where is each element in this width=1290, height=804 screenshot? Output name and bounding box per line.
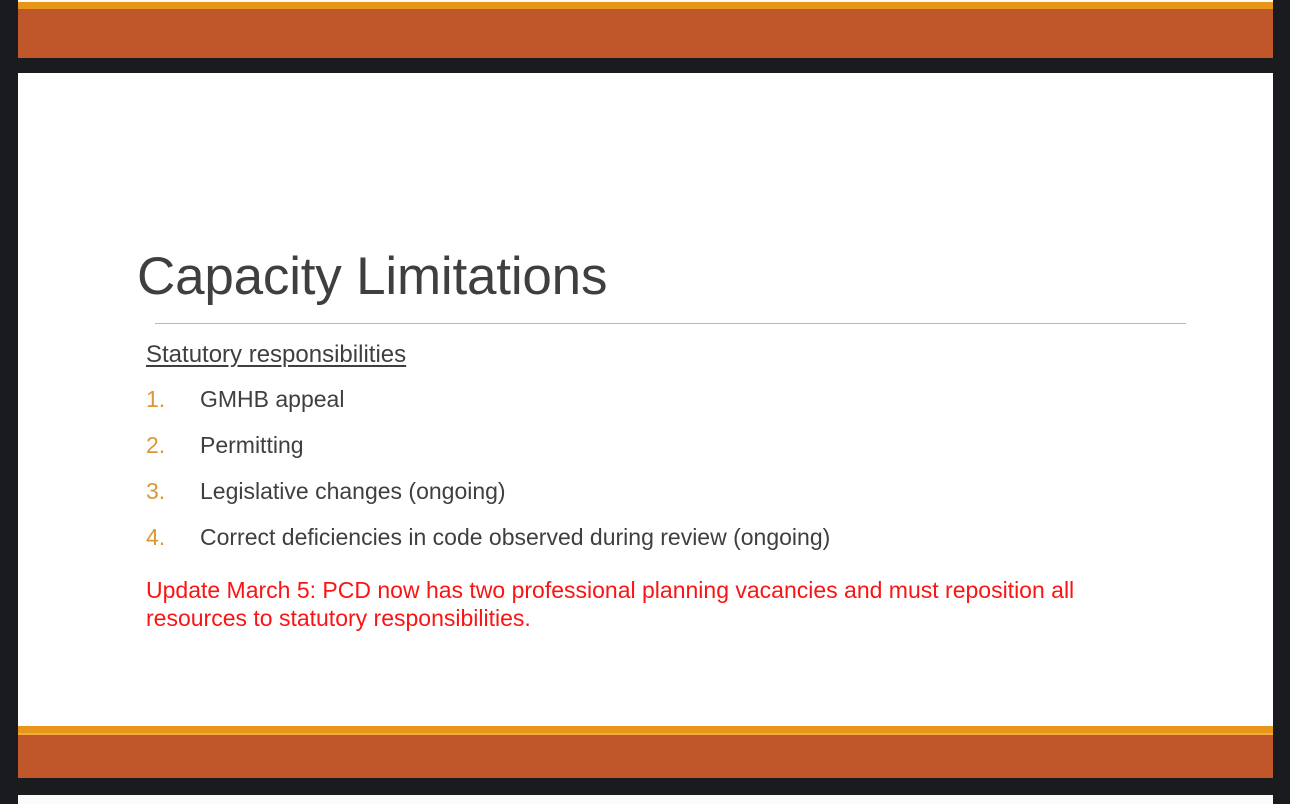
current-slide[interactable]: Capacity Limitations Statutory responsib… xyxy=(18,73,1273,778)
next-slide-sliver[interactable] xyxy=(18,795,1273,804)
list-item: 3. Legislative changes (ongoing) xyxy=(146,478,1206,524)
list-item-number: 1. xyxy=(146,386,200,413)
update-note: Update March 5: PCD now has two professi… xyxy=(146,576,1126,632)
title-divider-rule xyxy=(155,323,1186,324)
list-item-number: 2. xyxy=(146,432,200,459)
list-item-number: 4. xyxy=(146,524,200,551)
list-item-number: 3. xyxy=(146,478,200,505)
list-item: 4. Correct deficiencies in code observed… xyxy=(146,524,1206,570)
slide-content-area: Capacity Limitations Statutory responsib… xyxy=(18,73,1273,726)
slide-deck-viewer: Capacity Limitations Statutory responsib… xyxy=(0,0,1290,804)
list-item-label: GMHB appeal xyxy=(200,386,344,413)
previous-slide-accent-band xyxy=(18,9,1273,58)
list-item: 1. GMHB appeal xyxy=(146,386,1206,432)
list-item-label: Correct deficiencies in code observed du… xyxy=(200,524,830,551)
bottom-accent-stripe xyxy=(18,726,1273,733)
slide-title: Capacity Limitations xyxy=(137,249,1187,305)
section-subheading: Statutory responsibilities xyxy=(146,341,406,369)
previous-slide-accent-stripe xyxy=(18,2,1273,9)
list-item: 2. Permitting xyxy=(146,432,1206,478)
statutory-responsibilities-list: 1. GMHB appeal 2. Permitting 3. Legislat… xyxy=(146,386,1206,570)
slide-bottom-accent-band xyxy=(18,726,1273,778)
bottom-accent-fill xyxy=(18,735,1273,778)
previous-slide-sliver[interactable] xyxy=(18,0,1273,58)
list-item-label: Legislative changes (ongoing) xyxy=(200,478,506,505)
list-item-label: Permitting xyxy=(200,432,304,459)
